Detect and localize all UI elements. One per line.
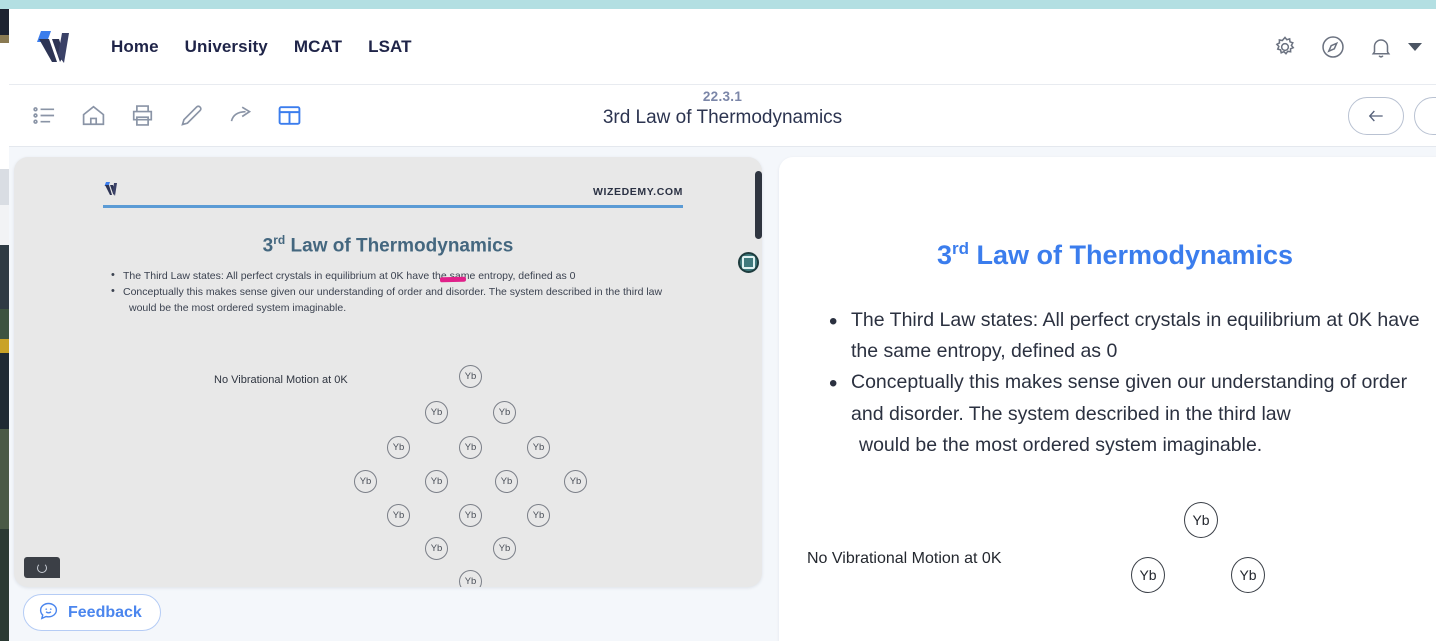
app-root: Home University MCAT LSAT — [0, 0, 1436, 641]
smiley-chat-icon — [38, 600, 59, 626]
lattice-atom: Yb — [387, 436, 410, 459]
slide-viewer[interactable]: WIZEDEMY.COM 3rd Law of Thermodynamics T… — [14, 157, 762, 587]
lattice-atom: Yb — [459, 570, 482, 587]
slide-scrollbar[interactable] — [755, 171, 762, 239]
print-icon[interactable] — [129, 102, 156, 129]
next-lesson-button[interactable]: N — [1414, 97, 1436, 135]
notes-lattice-atom: Yb — [1131, 557, 1165, 593]
notes-bullet-continuation: would be the most ordered system imagina… — [821, 430, 1421, 461]
notes-panel[interactable]: 3rd Law of Thermodynamics The Third Law … — [779, 157, 1436, 641]
lattice-atom: Yb — [564, 470, 587, 493]
slide-content: WIZEDEMY.COM 3rd Law of Thermodynamics T… — [14, 157, 762, 587]
spinner-icon — [37, 563, 47, 573]
crystal-lattice-diagram: YbYbYbYbYbYbYbYbYbYbYbYbYbYbYbYb — [14, 157, 762, 587]
lesson-toolbar: 22.3.1 3rd Law of Thermodynamics N — [9, 85, 1436, 147]
primary-nav: Home University MCAT LSAT — [111, 37, 412, 57]
home-icon[interactable] — [80, 102, 107, 129]
gear-icon[interactable] — [1272, 34, 1298, 60]
lattice-atom: Yb — [527, 436, 550, 459]
nav-home[interactable]: Home — [111, 37, 159, 57]
notes-lattice-atom: Yb — [1184, 502, 1218, 538]
toolbar-navigation: N — [1348, 97, 1436, 135]
lattice-atom: Yb — [527, 504, 550, 527]
header-actions — [1272, 34, 1422, 60]
lesson-workspace: WIZEDEMY.COM 3rd Law of Thermodynamics T… — [9, 147, 1436, 641]
loading-badge — [24, 557, 60, 578]
background-window-sliver — [0, 9, 9, 641]
lattice-atom: Yb — [459, 365, 482, 388]
notes-lattice-atom: Yb — [1231, 557, 1265, 593]
browser-top-band — [0, 0, 1436, 9]
notes-diagram-caption: No Vibrational Motion at 0K — [807, 550, 1001, 568]
previous-lesson-button[interactable] — [1348, 97, 1404, 135]
wizedemy-logo[interactable] — [31, 25, 87, 69]
notes-title-prefix: 3 — [937, 240, 952, 270]
lattice-atom: Yb — [459, 436, 482, 459]
list-icon[interactable] — [31, 102, 58, 129]
share-arrow-icon[interactable] — [227, 102, 254, 129]
lesson-title: 3rd Law of Thermodynamics — [603, 107, 842, 129]
feedback-label: Feedback — [68, 604, 142, 622]
nav-mcat[interactable]: MCAT — [294, 37, 342, 57]
nav-university[interactable]: University — [185, 37, 268, 57]
lattice-atom: Yb — [425, 470, 448, 493]
toolbar-tools — [31, 102, 303, 129]
lattice-atom: Yb — [493, 537, 516, 560]
notes-title-superscript: rd — [952, 239, 969, 258]
lattice-atom: Yb — [459, 504, 482, 527]
layout-panels-icon[interactable] — [276, 102, 303, 129]
feedback-button[interactable]: Feedback — [23, 594, 161, 631]
bell-icon[interactable] — [1368, 34, 1394, 60]
notes-bullet-2: Conceptually this makes sense given our … — [821, 367, 1421, 429]
notes-title: 3rd Law of Thermodynamics — [779, 239, 1436, 271]
chevron-down-icon[interactable] — [1408, 43, 1422, 51]
pencil-icon[interactable] — [178, 102, 205, 129]
lattice-atom: Yb — [425, 537, 448, 560]
nav-lsat[interactable]: LSAT — [368, 37, 412, 57]
site-header: Home University MCAT LSAT — [9, 9, 1436, 85]
lattice-atom: Yb — [493, 401, 516, 424]
chapter-number: 22.3.1 — [703, 89, 742, 104]
notes-bullet-1: The Third Law states: All perfect crysta… — [821, 305, 1421, 367]
lattice-atom: Yb — [354, 470, 377, 493]
slide-record-indicator-icon[interactable] — [738, 252, 759, 273]
notes-title-rest: Law of Thermodynamics — [976, 240, 1293, 270]
lattice-atom: Yb — [495, 470, 518, 493]
lattice-atom: Yb — [425, 401, 448, 424]
lattice-atom: Yb — [387, 504, 410, 527]
notes-bullet-list: The Third Law states: All perfect crysta… — [821, 305, 1421, 461]
compass-icon[interactable] — [1320, 34, 1346, 60]
